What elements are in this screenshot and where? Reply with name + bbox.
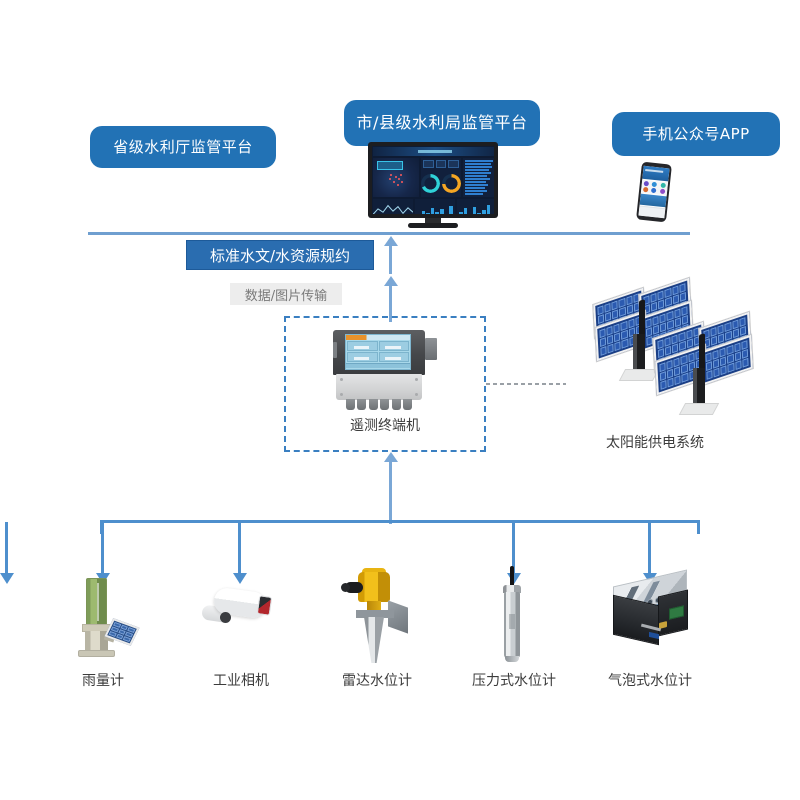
- rtu-lcd-screen: [345, 334, 411, 370]
- rtu-hinge-tab: [333, 342, 337, 358]
- phone-screen: [638, 166, 669, 218]
- smartphone-illustration: [636, 162, 672, 223]
- protocol-standard-box: 标准水文/水资源规约: [186, 240, 374, 270]
- dashboard-ranking-bars: [465, 160, 494, 195]
- rain-gauge-solar-panel: [104, 618, 139, 646]
- city-platform-button[interactable]: 市/县级水利局监管平台: [344, 100, 540, 146]
- rtu-label: 遥测终端机: [350, 418, 420, 434]
- solar-array: [654, 320, 762, 416]
- dashboard-donut-gauge-orange: [442, 174, 461, 193]
- phone-app-header: [642, 166, 669, 182]
- rain-gauge-tube: [86, 578, 107, 626]
- dashboard-map-legend: [377, 161, 403, 170]
- radar-horn-antenna: [364, 617, 384, 663]
- rtu-device-illustration: [330, 330, 436, 410]
- rain-gauge-base: [78, 650, 115, 657]
- pressure-sensor-body: [504, 592, 520, 658]
- sensor-bus-line: [100, 520, 700, 523]
- rtu-antenna-icon: [486, 383, 566, 385]
- radar-side-knob: [341, 583, 350, 592]
- dashboard-gauge-row: [421, 174, 462, 193]
- rtu-lower-housing: [336, 374, 422, 400]
- solar-system-caption: 太阳能供电系统: [590, 432, 720, 452]
- bar-chart-bars-1: [417, 205, 453, 214]
- rtu-screen-panel: [347, 352, 378, 362]
- bubbler-level-icon: [585, 560, 715, 670]
- camera-icon: [176, 560, 306, 670]
- rain-gauge-icon: [38, 560, 168, 670]
- uplink-arrow-sensors-to-rtu: [384, 452, 398, 524]
- sensor-label-radar-level: 雷达水位计: [312, 670, 442, 690]
- dashboard-ranking-panel: [463, 158, 494, 197]
- monitor-dashboard-screen: [372, 146, 494, 214]
- dashboard-bottom-charts: [373, 199, 494, 214]
- city-platform-label: 市/县级水利局监管平台: [357, 113, 528, 132]
- phone-app-list: [638, 206, 665, 219]
- sensor-branch-arrow: [0, 522, 14, 584]
- sensor-item-bubbler-level[interactable]: 气泡式水位计: [585, 560, 715, 700]
- rtu-connector-port: [425, 338, 437, 360]
- mobile-app-platform-button[interactable]: 手机公众号APP: [612, 112, 780, 156]
- dashboard-china-map: [373, 158, 419, 197]
- dashboard-donut-gauge-cyan: [421, 174, 440, 193]
- sensor-item-pressure-level[interactable]: 压力式水位计: [449, 560, 579, 700]
- system-architecture-diagram: 省级水利厅监管平台 市/县级水利局监管平台 手机公众号APP: [0, 0, 800, 800]
- provincial-platform-button[interactable]: 省级水利厅监管平台: [90, 126, 276, 168]
- data-transmission-label: 数据/图片传输: [245, 285, 327, 304]
- dashboard-title-bar: [373, 147, 494, 156]
- dashboard-line-chart-1: [373, 199, 413, 214]
- line-chart-svg-1: [373, 199, 413, 214]
- dashboard-bar-chart-1: [415, 199, 455, 214]
- monitor-bezel: [368, 142, 498, 218]
- rtu-screen-panel: [347, 341, 378, 351]
- platform-bus-line: [88, 232, 690, 235]
- data-transmission-badge: 数据/图片传输: [230, 283, 342, 305]
- rtu-upper-housing: [333, 330, 425, 375]
- mobile-app-platform-label: 手机公众号APP: [642, 125, 749, 143]
- radar-level-icon: [312, 560, 442, 670]
- sensor-item-radar-level[interactable]: 雷达水位计: [312, 560, 442, 700]
- rtu-caption: 遥测终端机: [284, 415, 486, 435]
- bar-chart-bars-2: [459, 205, 494, 214]
- camera-knuckle: [220, 612, 231, 623]
- pressure-level-icon: [449, 560, 579, 670]
- solar-array-base: [679, 403, 719, 415]
- sensor-label-pressure-level: 压力式水位计: [449, 670, 579, 690]
- radar-bracket: [356, 610, 394, 618]
- uplink-arrow-to-platforms: [384, 236, 398, 274]
- rtu-screen-panel: [379, 341, 410, 351]
- dashboard-bar-chart-2: [457, 199, 494, 214]
- camera-lens: [257, 595, 273, 616]
- sensor-item-industrial-camera[interactable]: 工业相机: [176, 560, 306, 700]
- sensor-label-industrial-camera: 工业相机: [176, 670, 306, 690]
- rtu-cable-glands: [346, 399, 412, 410]
- sensor-item-rain-gauge[interactable]: 雨量计: [38, 560, 168, 700]
- sensor-label-bubbler-level: 气泡式水位计: [585, 670, 715, 690]
- dashboard-kpi-row: [421, 158, 462, 170]
- rtu-screen-status-bar: [346, 363, 410, 368]
- rtu-screen-panel-grid: [346, 340, 410, 363]
- dashboard-center-panel: [421, 158, 462, 197]
- pressure-sensor-tip: [505, 656, 519, 662]
- solar-system-label: 太阳能供电系统: [606, 435, 704, 451]
- protocol-standard-label: 标准水文/水资源规约: [210, 245, 350, 266]
- solar-array-pole: [693, 368, 705, 406]
- phone-app-icon-grid: [641, 180, 668, 196]
- solar-array-pole: [633, 334, 645, 372]
- monitor-stand-base: [408, 223, 458, 228]
- desktop-monitor-illustration: [368, 142, 498, 222]
- sensor-bus-right-cap: [697, 520, 700, 534]
- provincial-platform-label: 省级水利厅监管平台: [113, 138, 253, 156]
- rtu-screen-panel: [379, 352, 410, 362]
- sensor-label-rain-gauge: 雨量计: [38, 670, 168, 690]
